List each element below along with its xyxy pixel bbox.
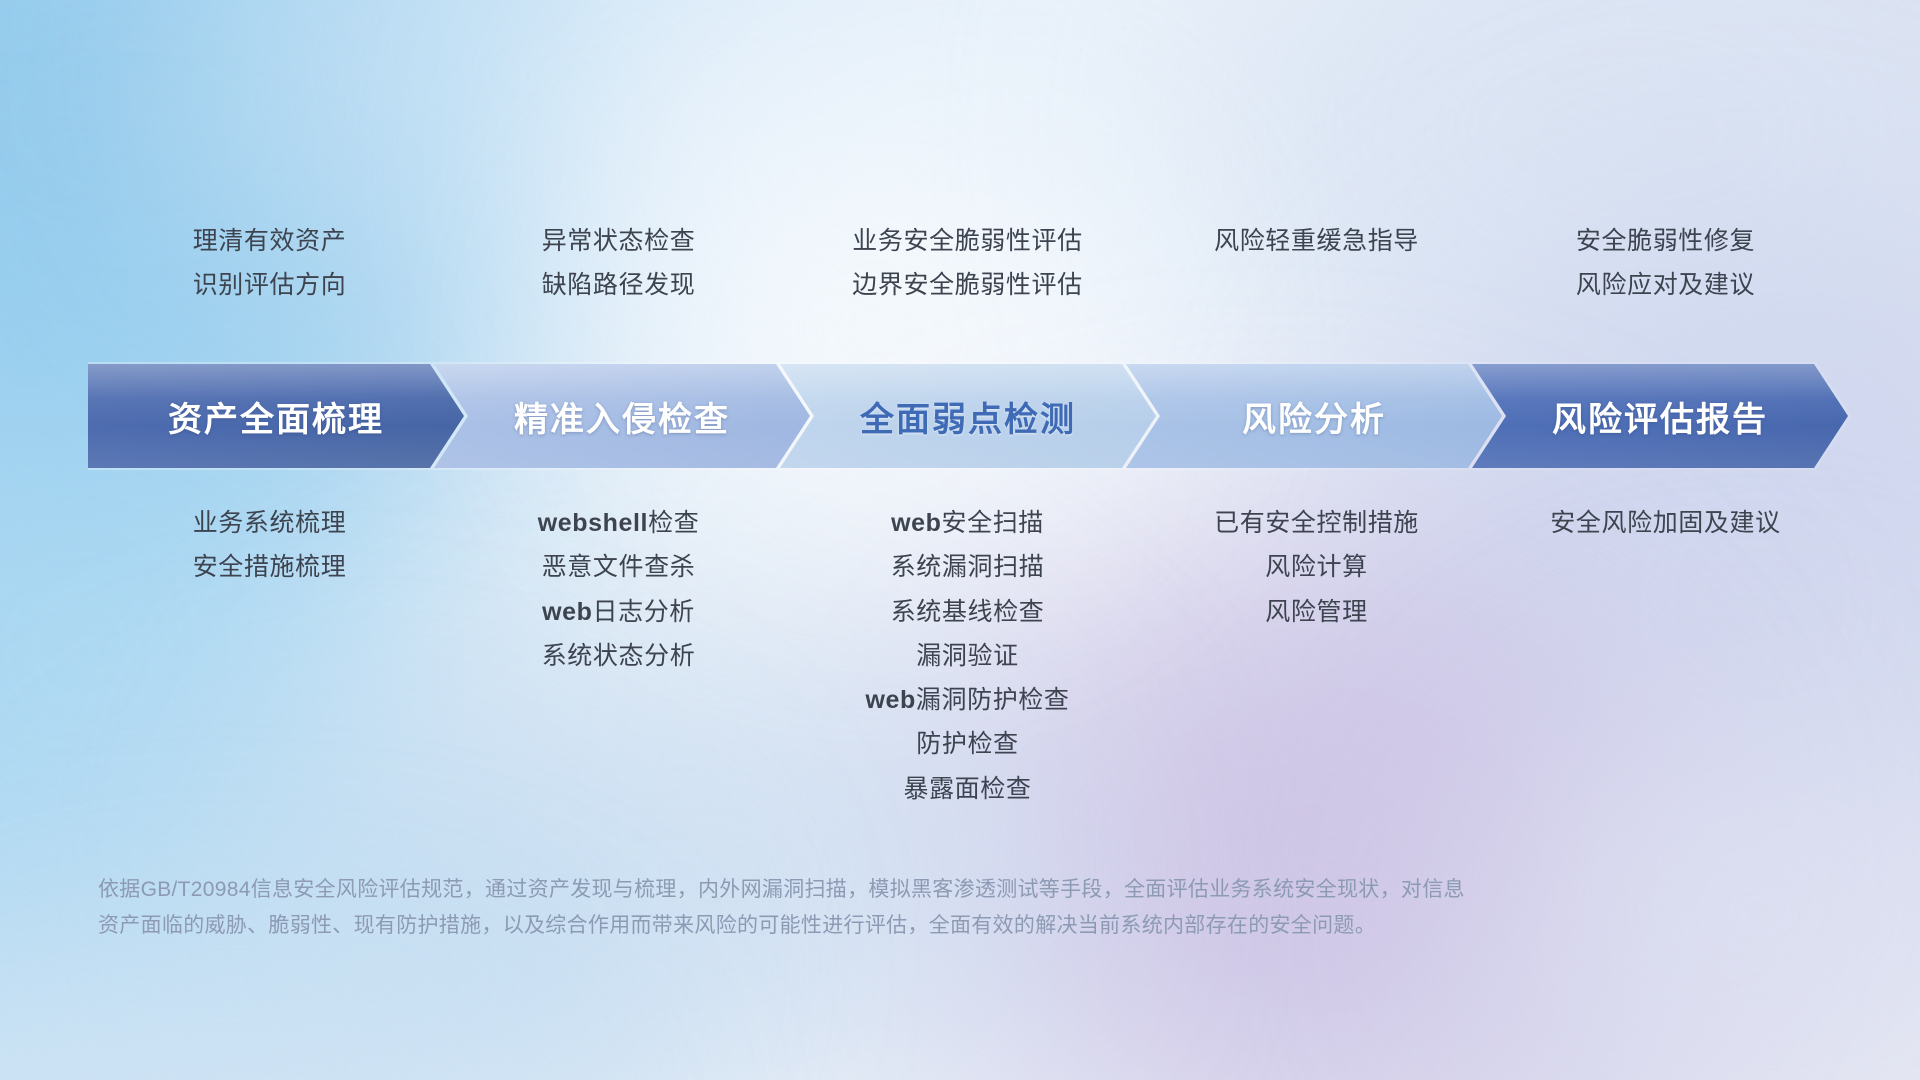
footer-description: 依据GB/T20984信息安全风险评估规范，通过资产发现与梳理，内外网漏洞扫描，… — [98, 872, 1618, 944]
bottom-items-stage-5: 安全风险加固及建议 — [1491, 510, 1840, 536]
top-note: 风险轻重缓急指导 — [1214, 228, 1419, 254]
top-note: 理清有效资产 — [193, 228, 347, 254]
top-note: 边界安全脆弱性评估 — [852, 272, 1082, 298]
top-note: 业务安全脆弱性评估 — [852, 228, 1082, 254]
top-notes-stage-5: 安全脆弱性修复 风险应对及建议 — [1491, 228, 1840, 299]
stage-arrow-2[interactable]: 精准入侵检查 — [434, 364, 810, 468]
top-notes-row: 理清有效资产 识别评估方向 异常状态检查 缺陷路径发现 业务安全脆弱性评估 边界… — [95, 228, 1840, 299]
top-note: 风险应对及建议 — [1576, 272, 1755, 298]
list-item: 安全措施梳理 — [193, 554, 347, 580]
stage-label: 风险评估报告 — [1552, 392, 1768, 441]
list-item: 系统基线检查 — [891, 599, 1045, 625]
list-item: 业务系统梳理 — [193, 510, 347, 536]
process-diagram: 理清有效资产 识别评估方向 异常状态检查 缺陷路径发现 业务安全脆弱性评估 边界… — [0, 0, 1920, 1080]
list-item: webshell检查 — [538, 510, 700, 536]
list-item: 系统状态分析 — [542, 643, 696, 669]
list-item: 安全风险加固及建议 — [1550, 510, 1780, 536]
stage-label: 精准入侵检查 — [514, 392, 730, 441]
top-note: 识别评估方向 — [193, 272, 347, 298]
stage-label: 全面弱点检测 — [860, 392, 1076, 441]
chevron-band: 资产全面梳理 精准入侵检查 全面弱点检测 风险分析 风险评估报告 — [88, 364, 1848, 468]
bottom-items-stage-3: web安全扫描 系统漏洞扫描 系统基线检查 漏洞验证 web漏洞防护检查 防护检… — [793, 510, 1142, 802]
bottom-items-stage-4: 已有安全控制措施 风险计算 风险管理 — [1142, 510, 1491, 625]
list-item: 漏洞验证 — [916, 643, 1018, 669]
list-item: web漏洞防护检查 — [865, 687, 1069, 713]
stage-arrow-3[interactable]: 全面弱点检测 — [780, 364, 1156, 468]
bottom-items-row: 业务系统梳理 安全措施梳理 webshell检查 恶意文件查杀 web日志分析 … — [95, 510, 1840, 802]
stage-label: 资产全面梳理 — [168, 392, 384, 441]
top-note: 安全脆弱性修复 — [1576, 228, 1755, 254]
stage-arrow-5[interactable]: 风险评估报告 — [1472, 364, 1848, 468]
list-item: 系统漏洞扫描 — [891, 554, 1045, 580]
list-item: 防护检查 — [916, 731, 1018, 757]
stage-arrow-1[interactable]: 资产全面梳理 — [88, 364, 464, 468]
list-item: web安全扫描 — [891, 510, 1044, 536]
top-note: 异常状态检查 — [542, 228, 696, 254]
bottom-items-stage-1: 业务系统梳理 安全措施梳理 — [95, 510, 444, 581]
footer-line: 依据GB/T20984信息安全风险评估规范，通过资产发现与梳理，内外网漏洞扫描，… — [98, 872, 1618, 908]
list-item: 风险管理 — [1265, 599, 1367, 625]
top-notes-stage-1: 理清有效资产 识别评估方向 — [95, 228, 444, 299]
top-notes-stage-2: 异常状态检查 缺陷路径发现 — [444, 228, 793, 299]
bottom-items-stage-2: webshell检查 恶意文件查杀 web日志分析 系统状态分析 — [444, 510, 793, 669]
list-item: 恶意文件查杀 — [542, 554, 696, 580]
list-item: 暴露面检查 — [903, 776, 1031, 802]
top-note: 缺陷路径发现 — [542, 272, 696, 298]
list-item: web日志分析 — [542, 599, 695, 625]
stage-arrow-4[interactable]: 风险分析 — [1126, 364, 1502, 468]
stage-label: 风险分析 — [1242, 392, 1386, 441]
top-notes-stage-3: 业务安全脆弱性评估 边界安全脆弱性评估 — [793, 228, 1142, 299]
list-item: 已有安全控制措施 — [1214, 510, 1419, 536]
top-notes-stage-4: 风险轻重缓急指导 — [1142, 228, 1491, 299]
list-item: 风险计算 — [1265, 554, 1367, 580]
footer-line: 资产面临的威胁、脆弱性、现有防护措施，以及综合作用而带来风险的可能性进行评估，全… — [98, 908, 1618, 944]
